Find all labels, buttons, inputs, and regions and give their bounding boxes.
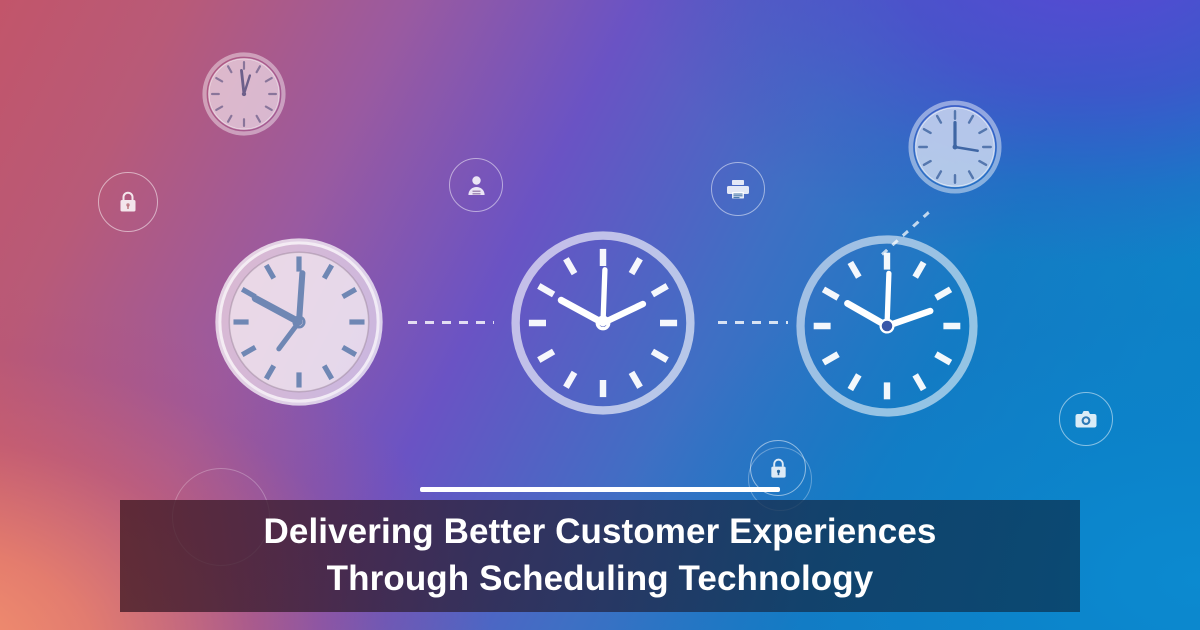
title-band: Delivering Better Customer Experiences T… — [120, 500, 1080, 612]
dashed-connector-center-to-right — [718, 321, 788, 324]
icon-bubble-printer[interactable] — [711, 162, 765, 216]
lock-icon — [117, 190, 139, 214]
icon-bubble-user[interactable] — [449, 158, 503, 212]
analog-clock-small-top-right — [908, 100, 1002, 194]
analog-clock-right — [793, 232, 981, 420]
title-line-1: Delivering Better Customer Experiences — [264, 509, 937, 556]
banner-graphic: Delivering Better Customer Experiences T… — [0, 0, 1200, 630]
analog-clock-center — [508, 228, 698, 418]
user-icon — [466, 174, 487, 196]
camera-icon — [1074, 409, 1098, 429]
icon-bubble-camera[interactable] — [1059, 392, 1113, 446]
title-line-2: Through Scheduling Technology — [327, 556, 874, 603]
printer-icon — [725, 178, 751, 200]
analog-clock-small-top-left — [202, 52, 286, 136]
analog-clock-left — [215, 238, 383, 406]
icon-bubble-lock[interactable] — [98, 172, 158, 232]
title-divider-rule — [420, 487, 780, 492]
lock-icon-2 — [768, 457, 789, 480]
dashed-connector-left-to-center — [408, 321, 494, 324]
